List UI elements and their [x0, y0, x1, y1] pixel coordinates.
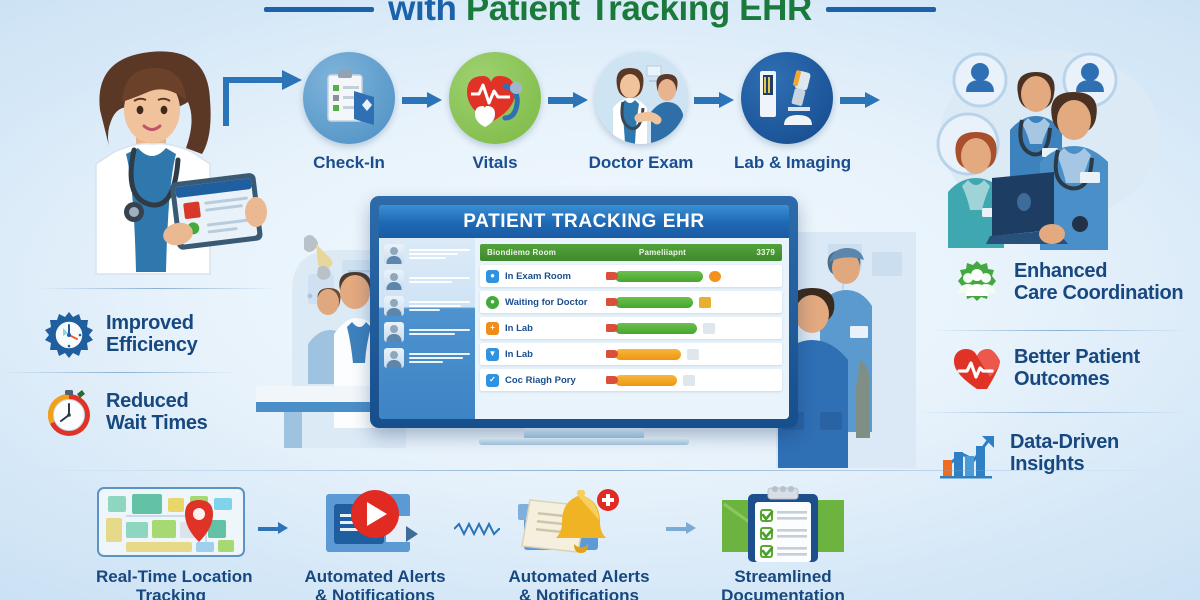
progress-bar — [615, 271, 703, 282]
progress-bar — [615, 349, 681, 360]
patient-info-lines — [409, 329, 470, 335]
bell-icon — [504, 486, 654, 562]
patient-info-lines — [409, 277, 470, 283]
feature-label-line1: Automated Alerts — [504, 568, 654, 587]
status-label: Waiting for Doctor — [505, 297, 609, 308]
feature-zigzag-connector — [454, 522, 500, 541]
monitor-frame: PATIENT TRACKING EHR — [370, 196, 798, 428]
feature-arrow-2 — [666, 522, 696, 534]
feature-label-line2: & Notifications — [300, 587, 450, 600]
title-text: with Patient Tracking EHR — [388, 0, 812, 29]
status-label: In Lab — [505, 349, 609, 360]
droplet-icon: ● — [486, 270, 499, 283]
patient-info-lines — [409, 301, 470, 311]
title-rule-left — [264, 7, 374, 12]
patient-avatar-icon — [384, 296, 404, 316]
feature-label-line2: Documentation — [708, 587, 858, 600]
page-title: with Patient Tracking EHR — [0, 0, 1200, 32]
benefit-divider-right-top — [930, 330, 1188, 331]
list-icon[interactable] — [687, 349, 699, 360]
table-row[interactable]: ● In Exam Room — [480, 265, 782, 287]
screen-title: PATIENT TRACKING EHR — [379, 205, 789, 238]
list-item[interactable] — [384, 348, 470, 368]
benefit-label: Reduced Wait Times — [106, 391, 207, 434]
feature-label: Streamlined Documentation — [708, 568, 858, 600]
benefit-label-line2: Insights — [1010, 454, 1119, 476]
table-row[interactable]: ● Waiting for Doctor — [480, 291, 782, 313]
benefit-label: Better Patient Outcomes — [1014, 347, 1140, 390]
feature-label-line1: Automated Alerts — [300, 568, 450, 587]
title-rule-right — [826, 7, 936, 12]
monitor-screen: PATIENT TRACKING EHR — [379, 205, 789, 419]
list-icon[interactable] — [683, 375, 695, 386]
patient-avatar-icon — [384, 348, 404, 368]
benefit-data-driven-insights: Data-Driven Insights — [940, 428, 1200, 480]
benefit-label-line2: Efficiency — [106, 335, 197, 357]
title-prefix: with — [388, 0, 466, 28]
microscope-icon — [741, 52, 833, 144]
benefit-label: Improved Efficiency — [106, 313, 197, 356]
benefit-label-line2: Wait Times — [106, 413, 207, 435]
clipboard-icon — [303, 52, 395, 144]
plus-icon: + — [486, 322, 499, 335]
feature-label: Real-Time Location Tracking — [96, 568, 246, 600]
list-item[interactable] — [384, 244, 470, 264]
flow-step-vitals[interactable]: Vitals — [442, 52, 548, 173]
feature-label-line2: Tracking — [96, 587, 246, 600]
flow-step-check-in[interactable]: Check-In — [296, 52, 402, 173]
table-header-row: Biondiemo Room Pameliiapnt 3379 — [480, 244, 782, 261]
flow-step-label: Check-In — [296, 153, 402, 173]
people-gear-icon — [952, 258, 1002, 308]
feature-real-time-location-tracking[interactable]: Real-Time Location Tracking — [96, 486, 246, 600]
stopwatch-icon — [44, 388, 94, 438]
flow-arrow-2 — [548, 92, 588, 108]
feature-label: Automated Alerts & Notifications — [504, 568, 654, 600]
status-label: In Lab — [505, 323, 609, 334]
benefit-label-line2: Outcomes — [1014, 369, 1140, 391]
flow-arrow-1 — [402, 92, 442, 108]
list-icon[interactable] — [703, 323, 715, 334]
table-row[interactable]: + In Lab — [480, 317, 782, 339]
gear-clock-icon — [44, 310, 94, 360]
screen-body: Biondiemo Room Pameliiapnt 3379 ● In Exa… — [379, 238, 789, 419]
care-team-illustration — [930, 44, 1180, 254]
patient-avatar-icon — [384, 270, 404, 290]
table-row[interactable]: ▼ In Lab — [480, 343, 782, 365]
patient-sidebar[interactable] — [379, 238, 475, 419]
status-label: Coc Riagh Pory — [505, 375, 609, 386]
play-button-icon — [300, 486, 450, 562]
feature-label-line1: Streamlined — [708, 568, 858, 587]
benefit-label-line1: Data-Driven — [1010, 432, 1119, 454]
column-header-room: Biondiemo Room — [487, 248, 633, 257]
flow-step-label: Vitals — [442, 153, 548, 173]
benefit-label-line2: Care Coordination — [1014, 283, 1183, 305]
benefit-better-patient-outcomes: Better Patient Outcomes — [952, 344, 1200, 394]
feature-label: Automated Alerts & Notifications — [300, 568, 450, 600]
feature-streamlined-documentation[interactable]: Streamlined Documentation — [708, 486, 858, 600]
column-header-count: 3379 — [753, 248, 775, 257]
map-pin-floorplan-icon — [96, 486, 246, 562]
list-item[interactable] — [384, 270, 470, 290]
benefit-label-line1: Enhanced — [1014, 261, 1183, 283]
monitor-stand-base — [479, 438, 689, 445]
feature-automated-alerts-bell[interactable]: Automated Alerts & Notifications — [504, 486, 654, 600]
flow-step-label: Lab & Imaging — [734, 153, 840, 173]
patient-info-lines — [409, 353, 470, 363]
progress-bar — [615, 297, 693, 308]
circle-badge-icon[interactable] — [709, 271, 721, 282]
list-item[interactable] — [384, 322, 470, 342]
patient-info-lines — [409, 249, 470, 259]
feature-automated-alerts-play[interactable]: Automated Alerts & Notifications — [300, 486, 450, 600]
column-header-patient: Pameliiapnt — [639, 248, 747, 257]
benefit-divider-left-top — [38, 288, 278, 289]
flow-step-label: Doctor Exam — [588, 153, 694, 173]
flow-step-doctor-exam[interactable]: Doctor Exam — [588, 52, 694, 173]
progress-bar — [615, 375, 677, 386]
benefit-enhanced-care-coordination: Enhanced Care Coordination — [952, 258, 1200, 308]
title-main: Patient Tracking EHR — [466, 0, 812, 28]
progress-bar — [615, 323, 697, 334]
cloud-icon: ● — [486, 296, 499, 309]
list-item[interactable] — [384, 296, 470, 316]
benefit-label-line1: Reduced — [106, 391, 207, 413]
benefit-divider-right-mid — [918, 412, 1188, 413]
note-badge-icon[interactable] — [699, 297, 711, 308]
check-icon: ✓ — [486, 374, 499, 387]
table-row[interactable]: ✓ Coc Riagh Pory — [480, 369, 782, 391]
bar-chart-icon — [940, 428, 998, 480]
benefit-divider-left-mid — [0, 372, 240, 373]
patient-avatar-icon — [384, 322, 404, 342]
flow-arrow-3 — [694, 92, 734, 108]
heart-ekg-icon — [952, 344, 1002, 394]
doctor-exam-icon — [595, 52, 687, 144]
feature-row: Real-Time Location Tracking Automated Al… — [96, 486, 858, 600]
bottom-section-divider — [30, 470, 1170, 471]
flow-arrow-4 — [840, 92, 880, 108]
feature-arrow-1 — [258, 522, 288, 534]
benefit-label: Enhanced Care Coordination — [1014, 261, 1183, 304]
heart-pulse-icon — [449, 52, 541, 144]
benefit-label-line1: Better Patient — [1014, 347, 1140, 369]
feature-label-line2: & Notifications — [504, 587, 654, 600]
clipboard-check-icon — [708, 486, 858, 562]
patient-tracking-monitor: PATIENT TRACKING EHR — [370, 196, 798, 440]
feature-label-line1: Real-Time Location — [96, 568, 246, 587]
workflow-steps: Check-In Vitals — [296, 52, 880, 173]
flow-step-lab-imaging[interactable]: Lab & Imaging — [734, 52, 840, 173]
patient-avatar-icon — [384, 244, 404, 264]
benefit-label-line1: Improved — [106, 313, 197, 335]
chevron-icon: ▼ — [486, 348, 499, 361]
patient-status-table: Biondiemo Room Pameliiapnt 3379 ● In Exa… — [475, 238, 789, 419]
status-label: In Exam Room — [505, 271, 609, 282]
monitor-stand-neck — [524, 428, 644, 438]
